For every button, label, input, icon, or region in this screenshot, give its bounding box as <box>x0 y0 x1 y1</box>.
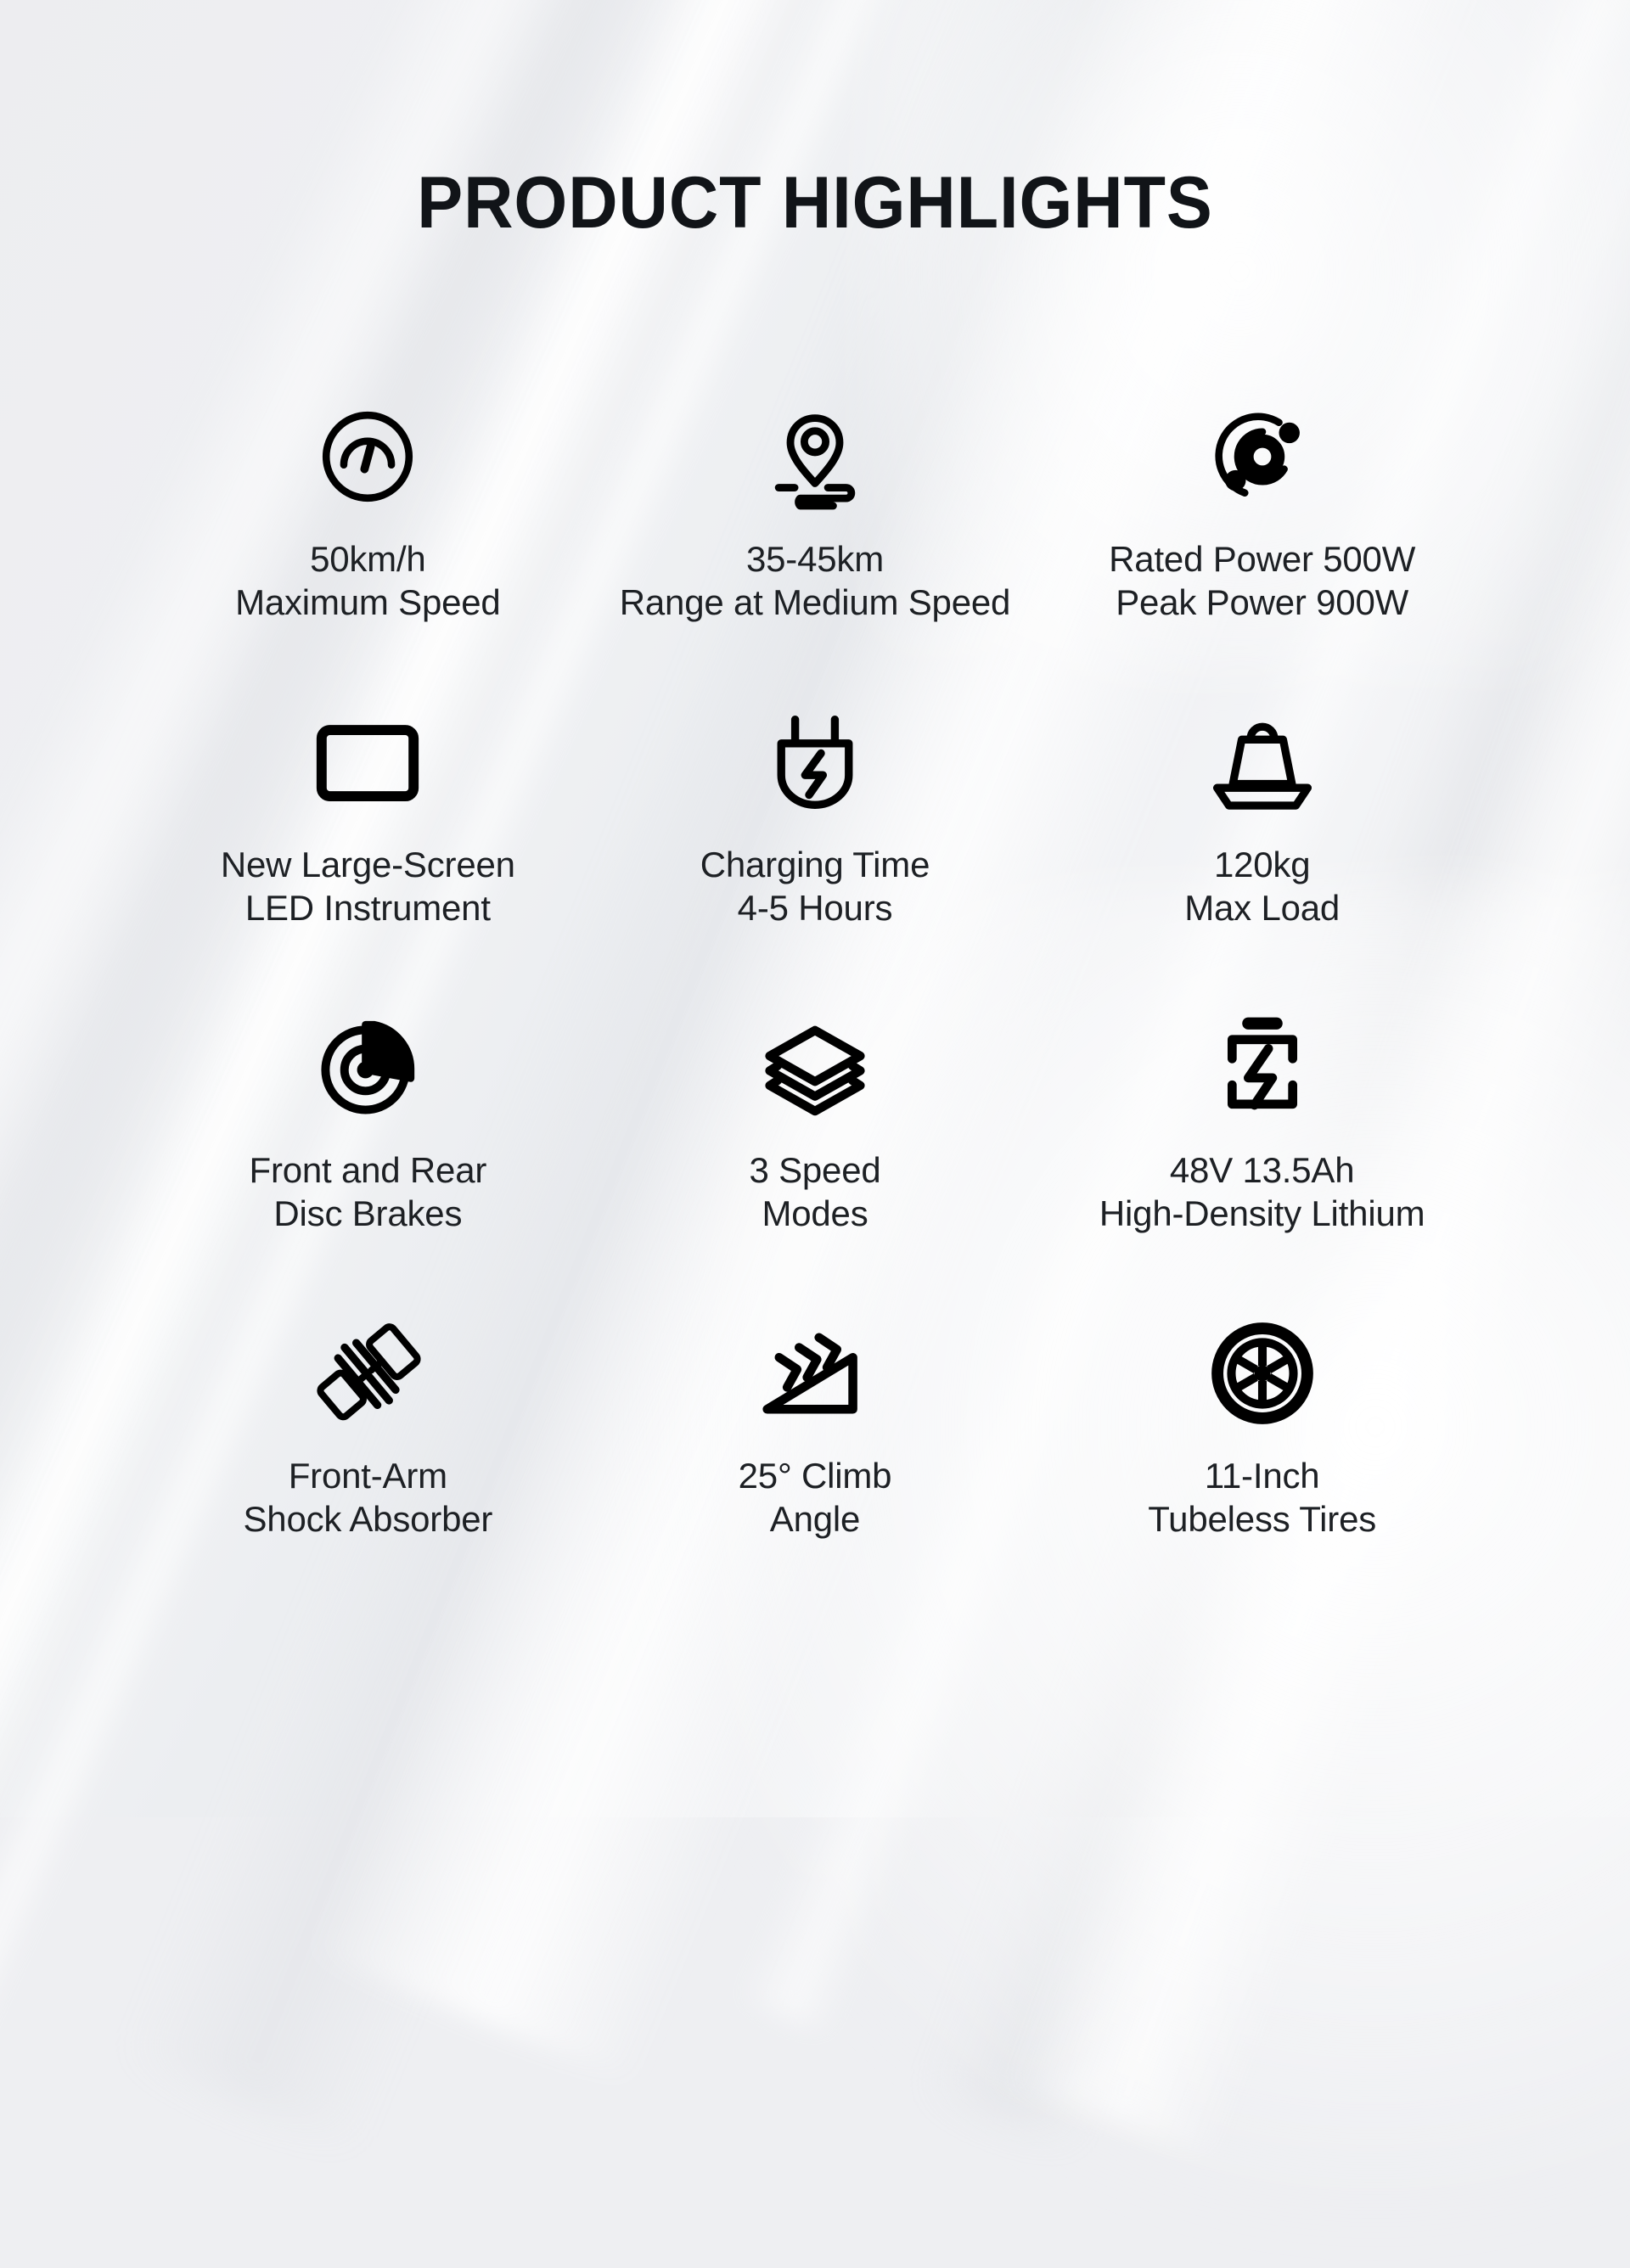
page-title: PRODUCT HIGHLIGHTS <box>49 161 1582 245</box>
feature-item: 50km/h Maximum Speed <box>144 399 592 705</box>
disc-brake-icon <box>315 1010 420 1125</box>
feature-item: Front-Arm Shock Absorber <box>144 1316 592 1621</box>
shock-absorber-icon <box>313 1316 422 1430</box>
map-pin-route-icon <box>762 399 868 514</box>
display-screen-icon <box>312 705 423 819</box>
feature-label: 50km/h Maximum Speed <box>235 537 501 624</box>
feature-item: New Large-Screen LED Instrument <box>144 705 592 1010</box>
feature-item: 11-Inch Tubeless Tires <box>1038 1316 1486 1621</box>
product-highlights-page: PRODUCT HIGHLIGHTS 50km/h Maximum Speed <box>0 0 1630 1817</box>
feature-label: 25° Climb Angle <box>739 1454 892 1541</box>
feature-label: 3 Speed Modes <box>749 1148 880 1235</box>
weight-load-icon <box>1207 705 1318 819</box>
feature-label: 48V 13.5Ah High-Density Lithium <box>1099 1148 1425 1235</box>
feature-label: Front-Arm Shock Absorber <box>243 1454 492 1541</box>
feature-grid: 50km/h Maximum Speed 35-45km Range at Me… <box>144 399 1486 1621</box>
feature-label: New Large-Screen LED Instrument <box>221 843 515 929</box>
feature-label: Front and Rear Disc Brakes <box>249 1148 486 1235</box>
feature-label: 35-45km Range at Medium Speed <box>620 537 1010 624</box>
layers-stack-icon <box>760 1010 870 1125</box>
feature-label: Rated Power 500W Peak Power 900W <box>1109 537 1415 624</box>
feature-item: 120kg Max Load <box>1038 705 1486 1010</box>
wheel-tire-icon <box>1209 1316 1316 1430</box>
feature-item: 25° Climb Angle <box>592 1316 1039 1621</box>
feature-label: Charging Time 4-5 Hours <box>700 843 930 929</box>
speedometer-icon <box>316 399 419 514</box>
feature-item: Rated Power 500W Peak Power 900W <box>1038 399 1486 705</box>
battery-bolt-icon <box>1216 1010 1309 1125</box>
motor-orbit-icon <box>1211 399 1314 514</box>
feature-item: Front and Rear Disc Brakes <box>144 1010 592 1316</box>
feature-item: Charging Time 4-5 Hours <box>592 705 1039 1010</box>
charging-plug-icon <box>765 705 865 819</box>
feature-label: 120kg Max Load <box>1184 843 1340 929</box>
feature-item: 35-45km Range at Medium Speed <box>592 399 1039 705</box>
feature-item: 3 Speed Modes <box>592 1010 1039 1316</box>
feature-label: 11-Inch Tubeless Tires <box>1148 1454 1376 1541</box>
climb-angle-icon <box>759 1316 871 1430</box>
feature-item: 48V 13.5Ah High-Density Lithium <box>1038 1010 1486 1316</box>
